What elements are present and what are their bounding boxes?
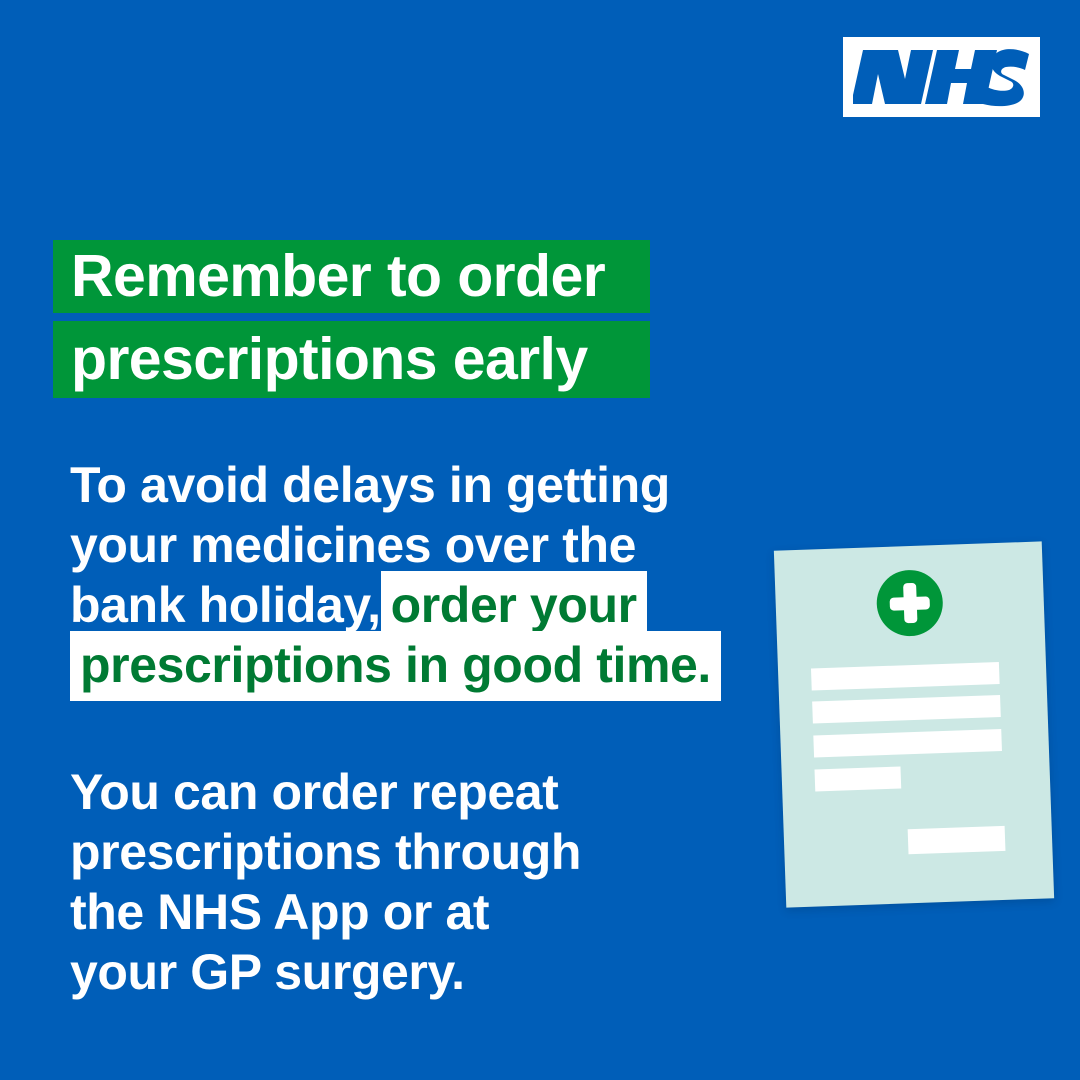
body-paragraph-1: To avoid delays in getting your medicine…	[70, 455, 770, 695]
headline-line-1-text: Remember to order	[71, 247, 605, 306]
body-line: To avoid delays in getting	[70, 455, 770, 515]
nhs-logo	[843, 37, 1040, 117]
headline-line-2-text: prescriptions early	[71, 330, 588, 389]
headline-line-1: Remember to order	[53, 240, 650, 313]
body-text: bank holiday,	[70, 577, 381, 633]
prescription-illustration	[774, 541, 1054, 907]
body-line: bank holiday,order your	[70, 575, 770, 635]
nhs-wordmark-logo-icon	[853, 46, 1031, 108]
body-line: your medicines over the	[70, 515, 770, 575]
prescription-text-line	[815, 766, 902, 791]
body-line: You can order repeat	[70, 762, 790, 822]
nhs-prescription-poster: Remember to order prescriptions early To…	[0, 0, 1080, 1080]
highlighted-text: prescriptions in good time.	[70, 631, 721, 701]
body-paragraph-2: You can order repeat prescriptions throu…	[70, 762, 790, 1002]
body-line: prescriptions in good time.	[70, 635, 770, 695]
body-text: To avoid delays in getting	[70, 457, 670, 513]
headline-line-2: prescriptions early	[53, 321, 650, 398]
prescription-signature-line	[908, 826, 1006, 854]
body-line: your GP surgery.	[70, 942, 790, 1002]
body-line: the NHS App or at	[70, 882, 790, 942]
body-text: your medicines over the	[70, 517, 636, 573]
body-line: prescriptions through	[70, 822, 790, 882]
cross-horizontal-bar	[890, 596, 930, 610]
